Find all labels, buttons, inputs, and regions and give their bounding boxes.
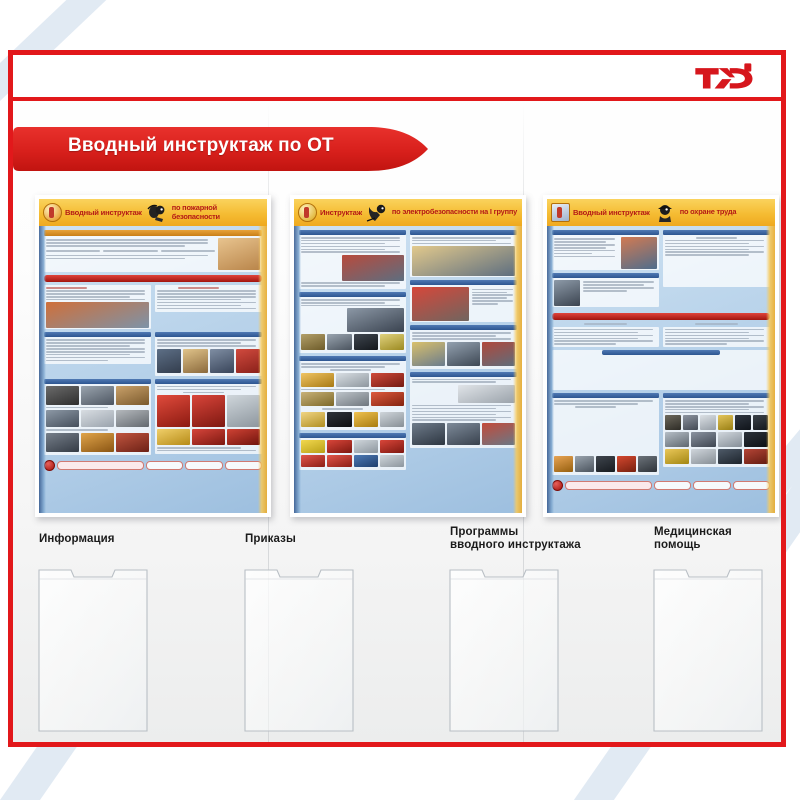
pocket-label-programs-line2: вводного инструктажа <box>450 539 581 552</box>
pocket-label-medical: Медицинская помощь <box>654 526 732 552</box>
rzd-logo-icon <box>693 61 763 95</box>
poster-header: Инструктаж по электробезопасности на I г… <box>294 199 522 226</box>
poster-footer-pills <box>44 460 262 471</box>
poster-body <box>547 226 775 513</box>
pocket-label-medical-line2: помощь <box>654 539 732 552</box>
section-banner <box>44 275 262 282</box>
poster-title-primary: Вводный инструктаж <box>573 208 650 217</box>
poster-fire-safety[interactable]: Вводный инструктаж по пожарной безопасно… <box>35 195 271 517</box>
document-pocket-programs[interactable] <box>449 569 559 732</box>
poster-header: Вводный инструктаж по пожарной безопасно… <box>39 199 267 226</box>
pocket-label-information: Информация <box>39 533 115 546</box>
board-header <box>13 55 781 101</box>
document-pocket-medical[interactable] <box>653 569 763 732</box>
poster-header: Вводный инструктаж по охране труда <box>547 199 775 226</box>
pocket-label-medical-line1: Медицинская <box>654 526 732 539</box>
pocket-label-programs: Программы вводного инструктажа <box>450 526 581 552</box>
pocket-label-orders: Приказы <box>245 533 296 546</box>
electric-hazard-icon <box>298 203 317 222</box>
poster-footer-pills <box>552 480 770 491</box>
poster-title-secondary: по пожарной безопасности <box>172 204 263 221</box>
worker-mascot-icon <box>653 203 677 223</box>
information-board: Вводный инструктаж по ОТ Вводный инструк… <box>8 50 786 747</box>
poster-title-primary: Вводный инструктаж <box>65 208 142 217</box>
poster-body <box>294 226 522 513</box>
poster-body <box>39 226 267 513</box>
stop-sign-icon <box>552 480 563 491</box>
poster-title-secondary: по электробезопасности на I группу <box>392 208 518 217</box>
document-pocket-orders[interactable] <box>244 569 354 732</box>
poster-labour-protection[interactable]: Вводный инструктаж по охране труда <box>543 195 779 517</box>
poster-title-secondary: по охране труда <box>680 208 771 217</box>
pocket-label-programs-line1: Программы <box>450 526 581 539</box>
page-title: Вводный инструктаж по ОТ <box>68 135 334 157</box>
poster-row: Вводный инструктаж по пожарной безопасно… <box>13 195 781 525</box>
poster-electrical-safety[interactable]: Инструктаж по электробезопасности на I г… <box>290 195 526 517</box>
fire-extinguisher-icon <box>43 203 62 222</box>
section-banner <box>552 313 770 320</box>
book-icon <box>551 203 570 222</box>
stop-sign-icon <box>44 460 55 471</box>
poster-title-primary: Инструктаж <box>320 208 362 217</box>
fireman-mascot-icon <box>145 203 169 223</box>
electrician-mascot-icon <box>365 203 389 223</box>
document-pocket-information[interactable] <box>38 569 148 732</box>
